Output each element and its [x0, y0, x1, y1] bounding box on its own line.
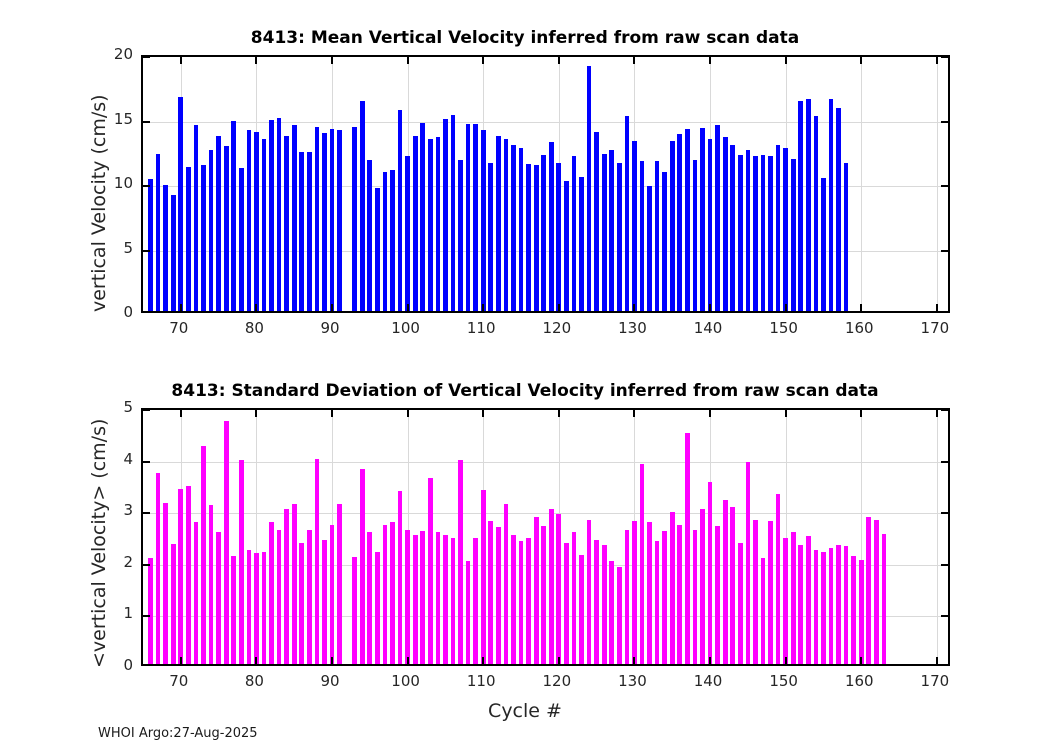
x-tick-mark	[936, 657, 938, 664]
bar	[436, 532, 441, 664]
bar	[186, 486, 191, 664]
bar	[277, 530, 282, 664]
x-tick-mark-top	[785, 57, 787, 64]
x-tick-mark	[558, 304, 560, 311]
bar	[209, 150, 214, 311]
x-tick-label: 160	[819, 672, 899, 690]
y-tick-mark-right	[941, 461, 948, 463]
bar	[556, 514, 561, 664]
bar	[413, 136, 418, 311]
bar	[541, 155, 546, 311]
y-tick-mark	[143, 615, 150, 617]
bar	[209, 505, 214, 664]
y-tick-label: 5	[79, 239, 133, 257]
bar	[534, 165, 539, 311]
bottom-plot-area	[141, 408, 950, 666]
bar	[677, 525, 682, 664]
y-tick-label: 5	[79, 398, 133, 416]
bar	[413, 535, 418, 664]
bar	[420, 531, 425, 664]
bar	[284, 136, 289, 311]
bar	[436, 137, 441, 311]
figure-root: 8413: Mean Vertical Velocity inferred fr…	[0, 0, 1050, 750]
x-tick-mark	[558, 657, 560, 664]
bar	[700, 509, 705, 664]
bar	[322, 133, 327, 311]
x-tick-mark	[331, 657, 333, 664]
bar	[405, 530, 410, 664]
bar	[640, 161, 645, 311]
y-tick-label: 0	[79, 303, 133, 321]
bar	[466, 124, 471, 311]
y-tick-label: 20	[79, 45, 133, 63]
bar	[171, 195, 176, 311]
bar	[738, 543, 743, 664]
x-tick-label: 130	[592, 672, 672, 690]
bar	[655, 541, 660, 664]
x-tick-mark-top	[331, 410, 333, 417]
bar	[851, 556, 856, 664]
bar	[360, 101, 365, 311]
bar	[194, 125, 199, 311]
bar	[594, 540, 599, 664]
y-tick-mark-right	[941, 56, 948, 58]
bar	[655, 161, 660, 311]
bar	[254, 553, 259, 664]
bar	[609, 561, 614, 664]
bar	[776, 494, 781, 664]
y-tick-mark	[143, 512, 150, 514]
bar	[572, 532, 577, 664]
bar	[262, 139, 267, 311]
bar	[292, 504, 297, 664]
y-tick-label: 2	[79, 553, 133, 571]
bar	[277, 118, 282, 312]
bar	[753, 156, 758, 311]
bar	[473, 124, 478, 311]
bar	[579, 555, 584, 664]
bar	[723, 137, 728, 311]
bar	[587, 520, 592, 664]
bar	[156, 473, 161, 664]
bar	[625, 116, 630, 311]
bar	[866, 517, 871, 664]
x-tick-mark	[407, 304, 409, 311]
x-tick-mark-top	[558, 410, 560, 417]
bar	[798, 545, 803, 664]
x-tick-label: 100	[366, 672, 446, 690]
bar	[443, 535, 448, 664]
x-tick-mark-top	[860, 410, 862, 417]
bar	[216, 532, 221, 664]
bar	[761, 558, 766, 664]
bar	[315, 459, 320, 664]
bar	[322, 540, 327, 664]
bar	[504, 139, 509, 311]
y-tick-mark	[143, 121, 150, 123]
bar	[753, 520, 758, 664]
x-tick-label: 90	[290, 319, 370, 337]
bar	[504, 504, 509, 664]
bar	[783, 538, 788, 664]
bar	[383, 525, 388, 664]
bar	[337, 130, 342, 311]
bar	[730, 145, 735, 311]
x-tick-mark	[936, 304, 938, 311]
bar	[481, 490, 486, 664]
x-tick-mark	[482, 304, 484, 311]
x-tick-label: 150	[744, 319, 824, 337]
x-tick-mark-top	[255, 410, 257, 417]
bar	[617, 163, 622, 311]
bar	[647, 522, 652, 664]
bar	[768, 156, 773, 311]
bar	[791, 532, 796, 664]
x-tick-mark-top	[785, 410, 787, 417]
y-tick-label: 1	[79, 604, 133, 622]
bar	[730, 507, 735, 664]
bar	[171, 544, 176, 664]
bar	[428, 478, 433, 664]
x-tick-mark-top	[180, 410, 182, 417]
y-tick-mark	[143, 564, 150, 566]
bar	[247, 550, 252, 664]
bar	[579, 177, 584, 311]
bar	[466, 561, 471, 664]
bar	[602, 545, 607, 664]
bar	[587, 66, 592, 311]
x-tick-mark	[785, 304, 787, 311]
bar	[511, 535, 516, 664]
bar	[572, 156, 577, 311]
x-tick-label: 80	[214, 672, 294, 690]
x-tick-mark	[407, 657, 409, 664]
x-tick-mark-top	[709, 57, 711, 64]
x-tick-mark-top	[407, 57, 409, 64]
bar	[617, 567, 622, 664]
x-tick-mark-top	[331, 57, 333, 64]
bar	[307, 530, 312, 664]
y-tick-mark-right	[941, 121, 948, 123]
bar	[836, 108, 841, 311]
x-tick-label: 70	[139, 672, 219, 690]
bar	[352, 557, 357, 664]
y-tick-mark	[143, 250, 150, 252]
x-tick-mark	[180, 657, 182, 664]
bar	[859, 560, 864, 664]
bar	[443, 119, 448, 311]
bar	[201, 165, 206, 311]
y-tick-mark-right	[941, 512, 948, 514]
x-tick-mark	[180, 304, 182, 311]
bar	[178, 489, 183, 664]
bar	[247, 130, 252, 311]
bar	[315, 127, 320, 311]
bar	[700, 128, 705, 311]
bar	[390, 522, 395, 664]
bar	[746, 462, 751, 664]
bar	[746, 150, 751, 311]
x-tick-label: 160	[819, 319, 899, 337]
x-tick-label: 70	[139, 319, 219, 337]
bar	[783, 148, 788, 311]
bar	[632, 521, 637, 664]
bar	[541, 526, 546, 664]
bar	[337, 504, 342, 664]
x-tick-mark	[255, 657, 257, 664]
bar	[375, 552, 380, 664]
bar	[844, 546, 849, 664]
bottom-bar-series	[143, 410, 948, 664]
bar	[685, 433, 690, 664]
bar	[806, 99, 811, 311]
x-tick-mark-top	[633, 57, 635, 64]
bar	[519, 148, 524, 311]
x-tick-label: 120	[517, 319, 597, 337]
bar	[693, 160, 698, 311]
y-tick-mark-right	[941, 564, 948, 566]
bar	[836, 545, 841, 664]
bar	[398, 110, 403, 311]
x-tick-mark-top	[255, 57, 257, 64]
x-tick-mark-top	[180, 57, 182, 64]
bar	[640, 464, 645, 664]
bar	[761, 155, 766, 311]
bar	[647, 186, 652, 311]
bar	[481, 130, 486, 311]
bar	[814, 116, 819, 311]
bar	[269, 522, 274, 664]
bar	[496, 136, 501, 311]
y-tick-label: 15	[79, 110, 133, 128]
bar	[405, 156, 410, 311]
bar	[458, 460, 463, 664]
x-tick-label: 140	[668, 319, 748, 337]
y-tick-mark	[143, 185, 150, 187]
x-tick-mark	[860, 304, 862, 311]
bar	[693, 530, 698, 664]
x-tick-mark	[709, 657, 711, 664]
bar	[715, 526, 720, 664]
y-tick-label: 3	[79, 501, 133, 519]
bar	[602, 154, 607, 311]
bar	[299, 543, 304, 664]
bar	[708, 482, 713, 664]
y-tick-mark-right	[941, 185, 948, 187]
bar	[526, 164, 531, 311]
bar	[262, 552, 267, 664]
bar	[511, 145, 516, 311]
bar	[428, 139, 433, 311]
bar	[677, 134, 682, 311]
bar	[662, 531, 667, 664]
bar	[224, 421, 229, 664]
bar	[148, 558, 153, 664]
bar	[526, 538, 531, 664]
bar	[451, 115, 456, 311]
x-tick-label: 110	[441, 672, 521, 690]
bar	[670, 141, 675, 311]
bar	[473, 538, 478, 664]
top-bar-series	[143, 57, 948, 311]
x-tick-mark	[633, 304, 635, 311]
bar	[806, 536, 811, 664]
x-tick-mark-top	[482, 57, 484, 64]
footer-credit: WHOI Argo:27-Aug-2025	[98, 726, 258, 741]
bar	[194, 522, 199, 664]
x-tick-label: 90	[290, 672, 370, 690]
bar	[738, 155, 743, 311]
bar	[375, 188, 380, 311]
bar	[148, 179, 153, 311]
bar	[163, 503, 168, 665]
bar	[307, 152, 312, 311]
y-tick-label: 4	[79, 450, 133, 468]
bar	[549, 509, 554, 664]
bar	[239, 460, 244, 664]
bar	[556, 163, 561, 311]
bar	[662, 172, 667, 311]
bar	[715, 125, 720, 311]
bar	[882, 534, 887, 664]
bar	[723, 500, 728, 664]
bar	[844, 163, 849, 311]
x-tick-mark-top	[936, 410, 938, 417]
x-tick-mark	[860, 657, 862, 664]
bar	[383, 172, 388, 311]
bar	[216, 136, 221, 311]
x-tick-mark-top	[709, 410, 711, 417]
x-tick-mark-top	[482, 410, 484, 417]
bar	[352, 127, 357, 311]
x-tick-label: 150	[744, 672, 824, 690]
x-tick-label: 170	[895, 672, 975, 690]
y-tick-mark	[143, 56, 150, 58]
x-tick-label: 170	[895, 319, 975, 337]
bar	[488, 521, 493, 664]
bar	[534, 517, 539, 664]
bar	[519, 541, 524, 664]
bar	[708, 139, 713, 311]
bar	[451, 538, 456, 664]
bar	[367, 160, 372, 311]
bar	[231, 556, 236, 664]
bar	[609, 150, 614, 311]
bar	[239, 168, 244, 311]
x-tick-mark-top	[936, 57, 938, 64]
bar	[330, 525, 335, 664]
y-tick-mark-right	[941, 409, 948, 411]
x-tick-mark	[482, 657, 484, 664]
y-tick-mark	[143, 409, 150, 411]
y-tick-label: 0	[79, 656, 133, 674]
x-tick-mark	[709, 304, 711, 311]
x-tick-mark	[255, 304, 257, 311]
x-tick-label: 100	[366, 319, 446, 337]
bar	[330, 129, 335, 311]
bar	[814, 550, 819, 664]
x-tick-mark	[633, 657, 635, 664]
bar	[829, 99, 834, 311]
bar	[798, 101, 803, 311]
y-tick-mark-right	[941, 250, 948, 252]
bar	[791, 159, 796, 311]
x-tick-mark-top	[633, 410, 635, 417]
bar	[398, 491, 403, 664]
x-tick-mark	[785, 657, 787, 664]
top-chart-title: 8413: Mean Vertical Velocity inferred fr…	[0, 28, 1050, 48]
bottom-chart-title: 8413: Standard Deviation of Vertical Vel…	[0, 381, 1050, 401]
bar	[821, 552, 826, 664]
bar	[163, 185, 168, 311]
bar	[488, 163, 493, 311]
bar	[776, 145, 781, 311]
bar	[231, 121, 236, 311]
bar	[632, 141, 637, 311]
bar	[156, 154, 161, 311]
y-tick-mark-right	[941, 615, 948, 617]
x-tick-mark-top	[558, 57, 560, 64]
top-plot-area	[141, 55, 950, 313]
bar	[390, 170, 395, 311]
bar	[254, 132, 259, 311]
bar	[564, 181, 569, 311]
bar	[685, 129, 690, 311]
bar	[186, 167, 191, 311]
bar	[670, 512, 675, 664]
x-tick-label: 80	[214, 319, 294, 337]
y-tick-mark	[143, 461, 150, 463]
x-tick-label: 130	[592, 319, 672, 337]
bar	[768, 521, 773, 664]
bar	[360, 469, 365, 664]
bar	[201, 446, 206, 664]
bar	[829, 548, 834, 664]
bar	[625, 530, 630, 664]
bar	[420, 123, 425, 311]
bar	[821, 178, 826, 311]
bar	[284, 509, 289, 664]
x-tick-mark	[331, 304, 333, 311]
bar	[292, 125, 297, 311]
x-tick-label: 120	[517, 672, 597, 690]
x-tick-label: 110	[441, 319, 521, 337]
bar	[496, 527, 501, 664]
x-axis-label: Cycle #	[0, 700, 1050, 722]
y-tick-label: 10	[79, 174, 133, 192]
bar	[299, 152, 304, 311]
bar	[269, 120, 274, 311]
x-tick-label: 140	[668, 672, 748, 690]
bar	[564, 543, 569, 664]
x-tick-mark-top	[407, 410, 409, 417]
bar	[549, 142, 554, 311]
bar	[178, 97, 183, 311]
bar	[874, 520, 879, 664]
x-tick-mark-top	[860, 57, 862, 64]
bar	[458, 160, 463, 311]
bar	[367, 532, 372, 664]
bar	[224, 146, 229, 311]
bar	[594, 132, 599, 311]
